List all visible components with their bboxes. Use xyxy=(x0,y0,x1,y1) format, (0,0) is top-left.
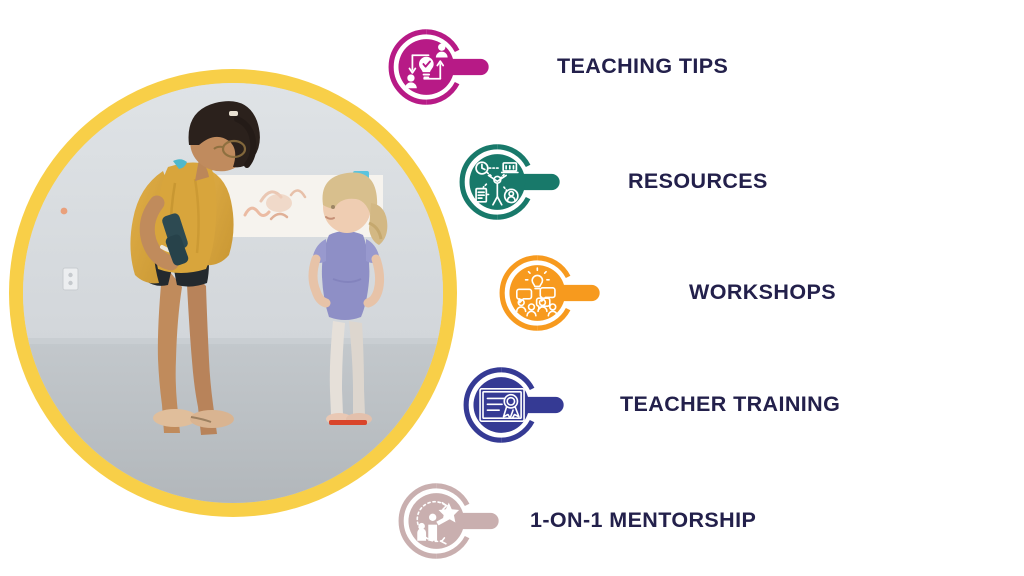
teacher-training-label: TEACHER TRAINING xyxy=(620,394,840,416)
studio-photo-illustration xyxy=(23,83,443,503)
mentorship-badge[interactable] xyxy=(396,466,506,576)
workshops-label: WORKSHOPS xyxy=(689,282,836,304)
person-resources-network-icon xyxy=(457,127,567,237)
teaching-tips-label: TEACHING TIPS xyxy=(557,56,728,78)
mentorship-label: 1-ON-1 MENTORSHIP xyxy=(530,510,756,532)
teaching-tips-badge[interactable] xyxy=(386,12,496,122)
lightbulb-check-people-icon xyxy=(386,12,496,122)
photo-circle-frame xyxy=(9,69,457,517)
badge-row-workshops[interactable]: WORKSHOPS xyxy=(497,238,836,348)
mentor-star-growth-icon xyxy=(396,466,506,576)
resources-label: RESOURCES xyxy=(628,171,768,193)
workshops-badge[interactable] xyxy=(497,238,607,348)
resources-badge[interactable] xyxy=(457,127,567,237)
badge-row-teacher-training[interactable]: TEACHER TRAINING xyxy=(461,350,840,460)
lightbulb-speech-bubbles-group-icon xyxy=(497,238,607,348)
studio-photo xyxy=(23,83,443,503)
badge-row-resources[interactable]: RESOURCES xyxy=(457,127,768,237)
slide-canvas: TEACHING TIPS xyxy=(0,0,1024,576)
badge-row-mentorship[interactable]: 1-ON-1 MENTORSHIP xyxy=(396,466,756,576)
teacher-training-badge[interactable] xyxy=(461,350,571,460)
certificate-award-icon xyxy=(461,350,571,460)
badge-row-teaching-tips[interactable]: TEACHING TIPS xyxy=(386,12,728,122)
